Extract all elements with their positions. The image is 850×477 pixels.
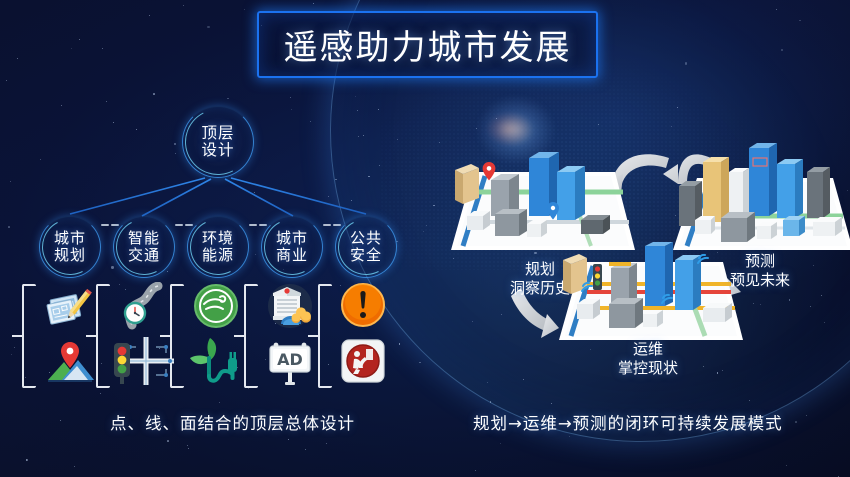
node-label-line2: 安全 bbox=[350, 247, 382, 264]
bracket-urban-commerce bbox=[244, 284, 258, 388]
node-label-line1: 环境 bbox=[202, 230, 234, 247]
ad-board-icon: AD bbox=[264, 340, 316, 386]
bank-money-icon bbox=[265, 282, 315, 330]
city-scene-prediction bbox=[665, 142, 850, 262]
bracket-smart-transport bbox=[96, 284, 110, 388]
title-box: 遥感助力城市发展 bbox=[257, 11, 598, 78]
city-label-prediction: 预测 预见未来 bbox=[665, 252, 850, 290]
node-label-line1: 城市 bbox=[276, 230, 308, 247]
left-caption: 点、线、面结合的顶层总体设计 bbox=[110, 410, 355, 434]
city-label-line1: 预测 bbox=[665, 252, 850, 271]
blueprint-pencil-icon bbox=[46, 284, 92, 330]
node-category-urban-commerce[interactable]: 城市 商业 bbox=[261, 216, 323, 278]
svg-text:AD: AD bbox=[277, 350, 303, 369]
eco-wind-icon bbox=[192, 282, 240, 330]
alert-exclamation-icon bbox=[340, 282, 386, 328]
no-entry-warning-icon bbox=[340, 338, 386, 384]
plant-plug-icon bbox=[186, 336, 242, 386]
node-category-public-safety[interactable]: 公共 安全 bbox=[335, 216, 397, 278]
left-diagram: 顶层 设计 城市 规划 智能 交通 环境 能源 城市 商业 bbox=[0, 92, 420, 422]
node-label-line2: 规划 bbox=[54, 247, 86, 264]
bracket-urban-planning bbox=[22, 284, 36, 388]
road-clock-icon bbox=[118, 282, 168, 332]
node-label-line2: 能源 bbox=[202, 247, 234, 264]
city-label-line2: 掌控现状 bbox=[553, 359, 743, 378]
page-title: 遥感助力城市发展 bbox=[284, 20, 572, 69]
map-pin-icon bbox=[44, 338, 96, 384]
bracket-public-safety bbox=[318, 284, 332, 388]
node-top-level-design[interactable]: 顶层 设计 bbox=[182, 106, 254, 178]
node-label-line1: 智能 bbox=[128, 230, 160, 247]
node-category-smart-transport[interactable]: 智能 交通 bbox=[113, 216, 175, 278]
slide-root: 遥感助力城市发展 bbox=[0, 0, 850, 477]
node-label-line2: 商业 bbox=[276, 247, 308, 264]
traffic-light-icon bbox=[112, 337, 174, 385]
node-label-line1: 公共 bbox=[350, 230, 382, 247]
node-category-environment-energy[interactable]: 环境 能源 bbox=[187, 216, 249, 278]
node-label-line2: 交通 bbox=[128, 247, 160, 264]
right-caption: 规划→运维→预测的闭环可持续发展模式 bbox=[473, 410, 783, 434]
city-label-operations: 运维 掌控现状 bbox=[553, 340, 743, 378]
node-label-line1: 顶层 bbox=[201, 125, 234, 142]
node-category-urban-planning[interactable]: 城市 规划 bbox=[39, 216, 101, 278]
city-label-line2: 预见未来 bbox=[665, 271, 850, 290]
city-label-line1: 运维 bbox=[553, 340, 743, 359]
node-label-line2: 设计 bbox=[201, 142, 234, 159]
right-diagram: 规划 洞察历史 bbox=[425, 92, 850, 432]
node-label-line1: 城市 bbox=[54, 230, 86, 247]
